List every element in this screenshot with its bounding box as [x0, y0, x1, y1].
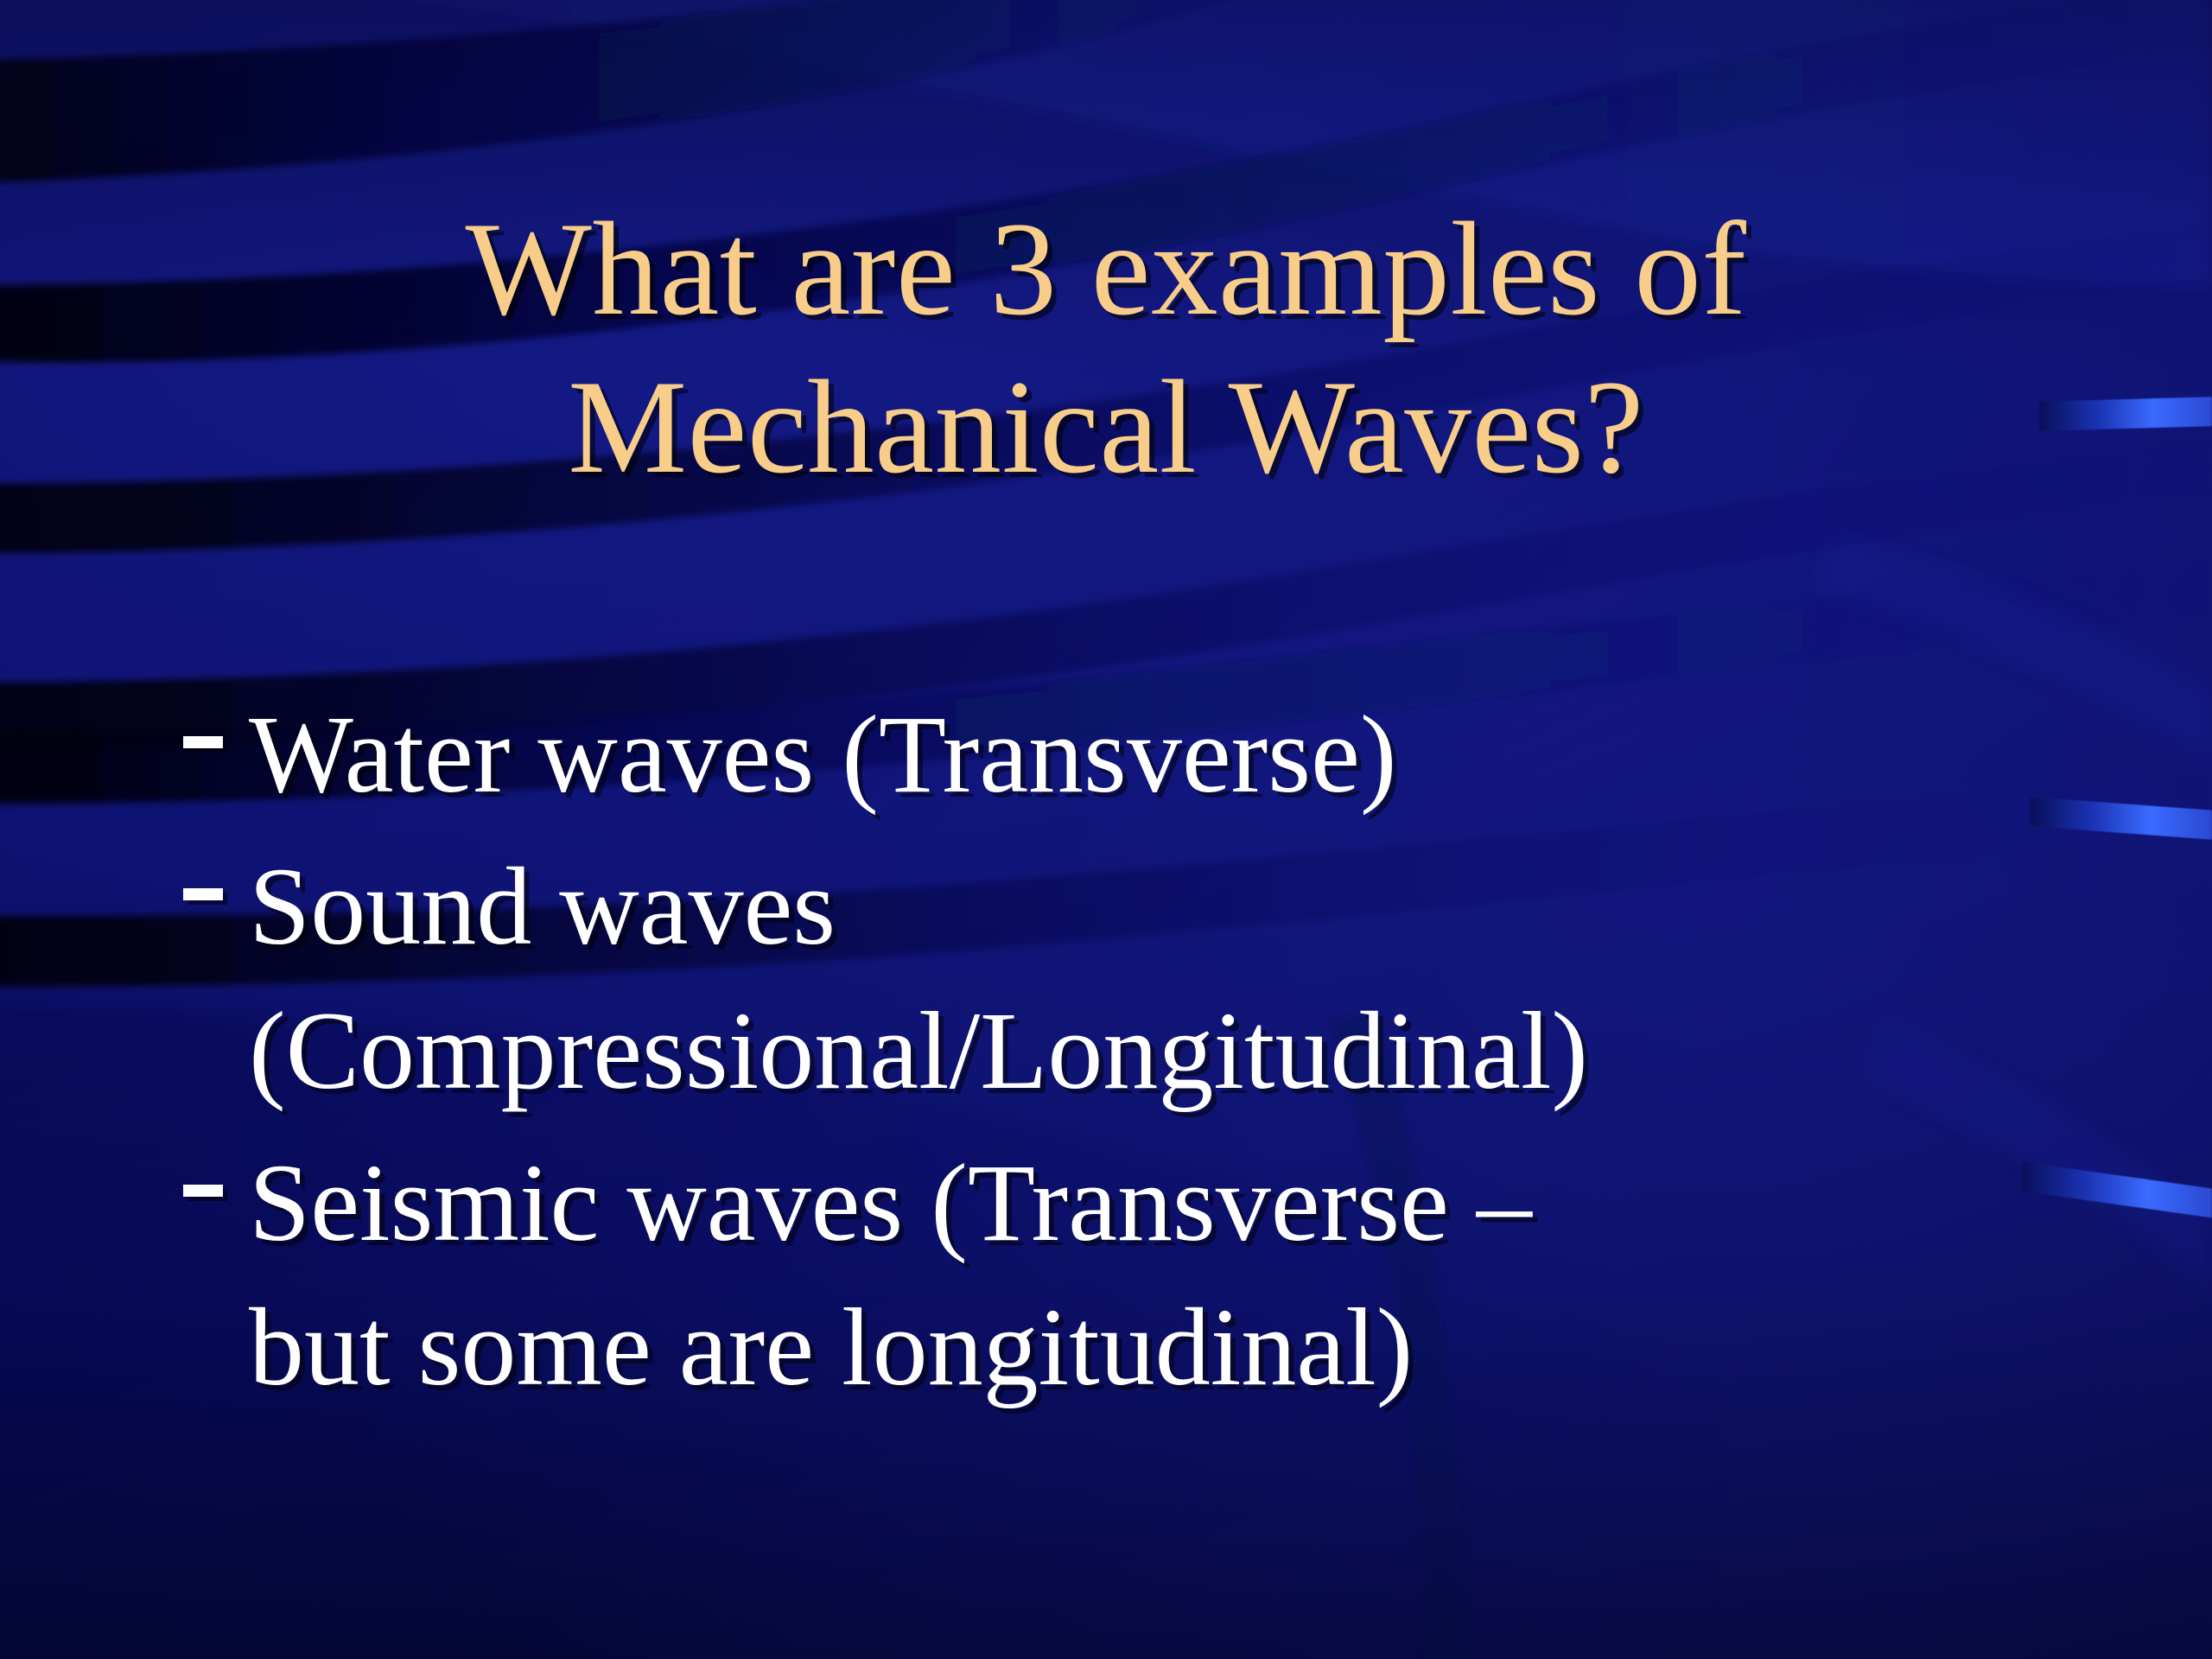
bullet-line: Water waves (Transverse) [249, 683, 2136, 826]
title-line-1: What are 3 examples of [156, 190, 2056, 348]
bullet-item-water-waves: Water waves (Transverse) [183, 683, 2136, 826]
dash-bullet-glyph [183, 1185, 223, 1197]
bullet-line: but some are longitudinal) [249, 1275, 2136, 1419]
bullet-text-seismic-waves: Seismic waves (Transverse – but some are… [249, 1131, 2136, 1419]
bullet-text-water-waves: Water waves (Transverse) [249, 683, 2136, 826]
slide-body-bullet-list: Water waves (Transverse) Sound waves (Co… [183, 683, 2136, 1427]
dash-bullet-icon [183, 736, 230, 748]
bullet-line: Seismic waves (Transverse – [249, 1131, 2136, 1274]
title-line-2: Mechanical Waves? [156, 348, 2056, 506]
bullet-line: Sound waves [249, 835, 2136, 978]
slide-content: What are 3 examples of Mechanical Waves?… [0, 0, 2212, 1659]
slide-title: What are 3 examples of Mechanical Waves? [156, 190, 2056, 506]
bullet-line: (Compressional/Longitudinal) [249, 979, 2136, 1122]
presentation-slide: What are 3 examples of Mechanical Waves?… [0, 0, 2212, 1659]
bullet-item-sound-waves: Sound waves (Compressional/Longitudinal) [183, 835, 2136, 1122]
dash-bullet-glyph [183, 736, 223, 748]
bullet-item-seismic-waves: Seismic waves (Transverse – but some are… [183, 1131, 2136, 1419]
dash-bullet-icon [183, 888, 230, 900]
dash-bullet-icon [183, 1185, 230, 1197]
bullet-text-sound-waves: Sound waves (Compressional/Longitudinal) [249, 835, 2136, 1122]
dash-bullet-glyph [183, 888, 223, 900]
